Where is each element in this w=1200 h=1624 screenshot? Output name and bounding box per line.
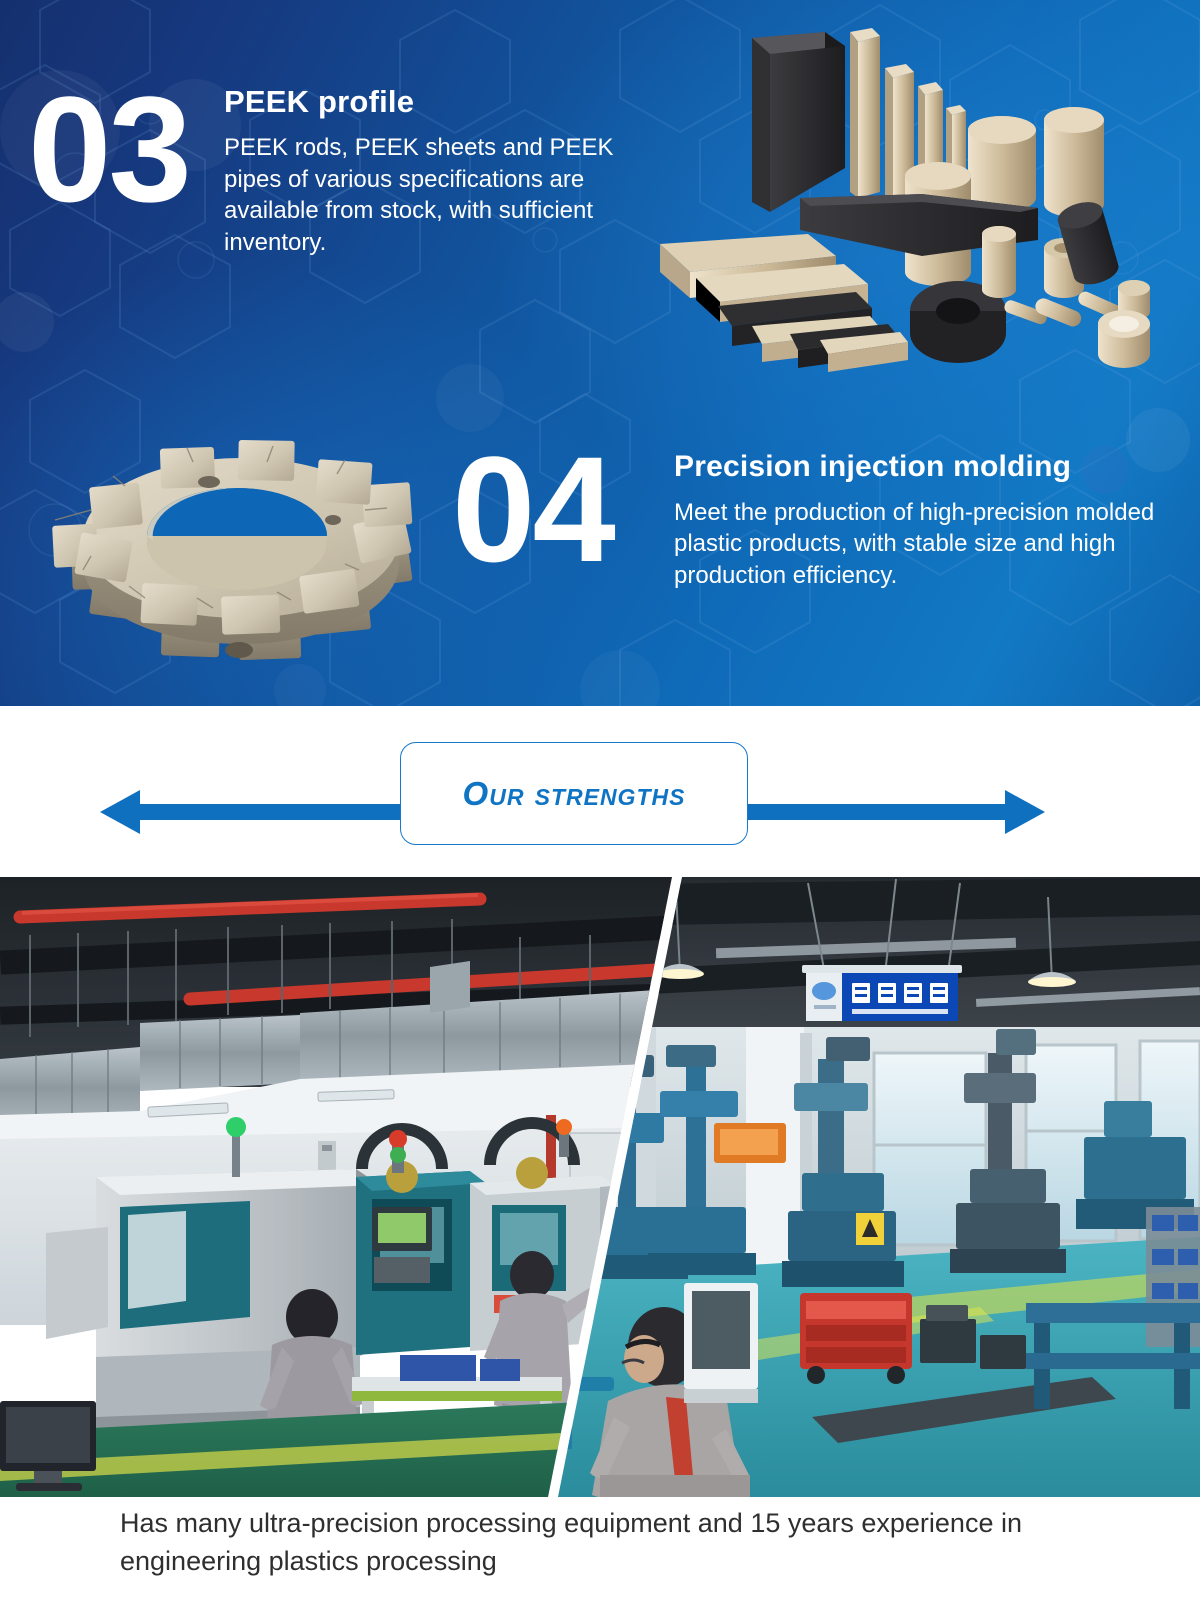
promo-page: 03 PEEK profile PEEK rods, PEEK sheets a… (0, 0, 1200, 1624)
feature-title-04: Precision injection molding (674, 450, 1174, 485)
feature-text-03: PEEK profile PEEK rods, PEEK sheets and … (224, 84, 670, 259)
feature-description-04: Meet the production of high-precision mo… (674, 497, 1174, 593)
feature-block-04: 04 Precision injection molding Meet the … (452, 438, 1182, 668)
factory-gallery (0, 877, 1200, 1497)
feature-block-03: 03 PEEK profile PEEK rods, PEEK sheets a… (28, 78, 668, 348)
feature-title-03: PEEK profile (224, 84, 670, 120)
feature-number-03: 03 (28, 78, 189, 221)
features-blue-panel: 03 PEEK profile PEEK rods, PEEK sheets a… (0, 0, 1200, 706)
feature-description-03: PEEK rods, PEEK sheets and PEEK pipes of… (224, 132, 670, 260)
workshop-sign (802, 965, 962, 1021)
strengths-label: Our strengths (463, 775, 686, 813)
factory-photo-left (0, 877, 672, 1497)
peek-gear-ring-image (26, 398, 456, 688)
feature-text-04: Precision injection molding Meet the pro… (674, 450, 1174, 592)
peek-products-image (660, 16, 1200, 386)
feature-number-04: 04 (452, 438, 613, 581)
gallery-caption: Has many ultra-precision processing equi… (120, 1504, 1100, 1581)
strengths-title-box: Our strengths (400, 742, 748, 845)
